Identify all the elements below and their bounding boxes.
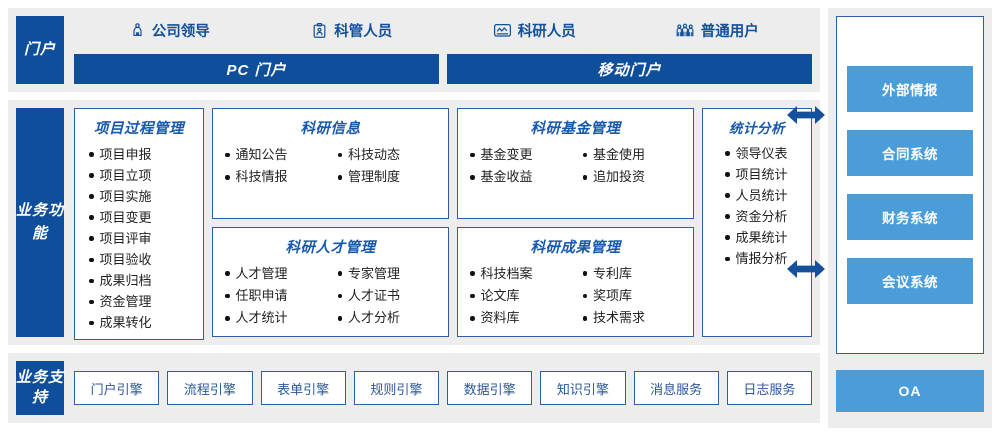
clipboard-person-icon: [311, 22, 328, 39]
engine-form[interactable]: 表单引擎: [261, 371, 346, 405]
engine-rule[interactable]: 规则引擎: [354, 371, 439, 405]
mobile-portal-bar[interactable]: 移动门户: [447, 54, 812, 84]
engine-process[interactable]: 流程引擎: [167, 371, 252, 405]
card-title: 统计分析: [729, 117, 785, 137]
list-item[interactable]: 基金变更: [470, 144, 533, 166]
list-item[interactable]: 人才管理: [225, 263, 288, 285]
persona-label: 科管人员: [334, 20, 392, 41]
persona-researcher[interactable]: 科研人员: [443, 20, 626, 41]
engine-portal[interactable]: 门户引擎: [74, 371, 159, 405]
portal-body: 公司领导 科管人员: [74, 16, 812, 84]
list-item[interactable]: 成果归档: [89, 270, 152, 291]
service-log[interactable]: 日志服务: [727, 371, 812, 405]
card-research-talent-management[interactable]: 科研人才管理 人才管理 专家管理 任职申请 人才证书 人才统计 人才分析: [212, 227, 449, 338]
portal-row-label: 门户: [16, 16, 64, 84]
persona-label: 普通用户: [701, 20, 759, 41]
function-column-3: 科研基金管理 基金变更 基金使用 基金收益 追加投资 科研成果管理 科技档案 专…: [457, 108, 694, 337]
list-item[interactable]: 技术需求: [583, 307, 646, 329]
card-project-process-management[interactable]: 项目过程管理 项目申报 项目立项 项目实施 项目变更 项目评审 项目验收 成果归…: [74, 108, 204, 340]
list-item[interactable]: 管理制度: [338, 166, 401, 188]
list-item[interactable]: 项目实施: [89, 186, 152, 207]
card-statistical-analysis[interactable]: 统计分析 领导仪表 项目统计 人员统计 资金分析 成果统计 情报分析: [702, 108, 812, 337]
service-message[interactable]: 消息服务: [634, 371, 719, 405]
arrow-top-icon: [786, 104, 826, 126]
list-item[interactable]: 项目评审: [89, 228, 152, 249]
card-research-fund-management[interactable]: 科研基金管理 基金变更 基金使用 基金收益 追加投资: [457, 108, 694, 219]
business-support-band: 业务支持 门户引擎 流程引擎 表单引擎 规则引擎 数据引擎 知识引擎 消息服务 …: [8, 353, 820, 423]
list-item[interactable]: 基金使用: [583, 144, 646, 166]
list-item[interactable]: 资金分析: [725, 206, 788, 227]
list-item[interactable]: 人员统计: [725, 185, 788, 206]
list-item[interactable]: 领导仪表: [725, 143, 788, 164]
list-item[interactable]: 项目统计: [725, 164, 788, 185]
business-support-row-label: 业务支持: [16, 361, 64, 415]
card-research-achievement-management[interactable]: 科研成果管理 科技档案 专利库 论文库 奖项库 资料库 技术需求: [457, 227, 694, 338]
list-item[interactable]: 人才证书: [338, 285, 401, 307]
list-item[interactable]: 基金收益: [470, 166, 533, 188]
card-research-information[interactable]: 科研信息 通知公告 科技动态 科技情报 管理制度: [212, 108, 449, 219]
engine-knowledge[interactable]: 知识引擎: [540, 371, 625, 405]
function-column-2: 科研信息 通知公告 科技动态 科技情报 管理制度 科研人才管理 人才管理 专家管…: [212, 108, 449, 337]
persona-general-user[interactable]: 普通用户: [626, 20, 809, 41]
card-item-list: 基金变更 基金使用 基金收益 追加投资: [462, 144, 689, 189]
list-item[interactable]: 科技动态: [338, 144, 401, 166]
list-item[interactable]: 资料库: [470, 307, 520, 329]
card-title: 项目过程管理: [94, 117, 184, 138]
persona-company-leader[interactable]: 公司领导: [78, 20, 261, 41]
engine-data[interactable]: 数据引擎: [447, 371, 532, 405]
list-item[interactable]: 项目验收: [89, 249, 152, 270]
list-item[interactable]: 项目立项: [89, 165, 152, 186]
function-column-1: 项目过程管理 项目申报 项目立项 项目实施 项目变更 项目评审 项目验收 成果归…: [74, 108, 204, 337]
external-systems-panel: 外部情报 合同系统 财务系统 会议系统 OA: [828, 8, 992, 428]
persona-research-admin[interactable]: 科管人员: [261, 20, 444, 41]
business-functions-row-label: 业务功能: [16, 108, 64, 337]
architecture-diagram: 门户 公司领导: [0, 0, 1000, 436]
persona-label: 公司领导: [152, 20, 210, 41]
engine-list: 门户引擎 流程引擎 表单引擎 规则引擎 数据引擎 知识引擎 消息服务 日志服务: [74, 371, 812, 405]
external-system-oa[interactable]: OA: [836, 370, 984, 412]
external-systems-box: 外部情报 合同系统 财务系统 会议系统: [836, 16, 984, 354]
list-item[interactable]: 人才统计: [225, 307, 288, 329]
card-item-list: 人才管理 专家管理 任职申请 人才证书 人才统计 人才分析: [217, 263, 444, 330]
list-item[interactable]: 论文库: [470, 285, 520, 307]
card-item-list: 项目申报 项目立项 项目实施 项目变更 项目评审 项目验收 成果归档 资金管理 …: [79, 144, 199, 333]
card-item-list: 通知公告 科技动态 科技情报 管理制度: [217, 144, 444, 189]
card-title: 科研人才管理: [286, 236, 376, 257]
list-item[interactable]: 任职申请: [225, 285, 288, 307]
portal-band: 门户 公司领导: [8, 8, 820, 92]
list-item[interactable]: 科技情报: [225, 166, 288, 188]
external-system-finance[interactable]: 财务系统: [847, 194, 973, 240]
list-item[interactable]: 资金管理: [89, 291, 152, 312]
list-item[interactable]: 情报分析: [725, 248, 788, 269]
list-item[interactable]: 追加投资: [583, 166, 646, 188]
persona-row: 公司领导 科管人员: [74, 16, 812, 44]
leader-icon: [129, 22, 146, 39]
card-title: 科研基金管理: [531, 117, 621, 138]
card-item-list: 科技档案 专利库 论文库 奖项库 资料库 技术需求: [462, 263, 689, 330]
list-item[interactable]: 奖项库: [583, 285, 633, 307]
business-functions-band: 业务功能 项目过程管理 项目申报 项目立项 项目实施 项目变更 项目评审 项目验…: [8, 100, 820, 345]
list-item[interactable]: 项目变更: [89, 207, 152, 228]
card-title: 科研成果管理: [531, 236, 621, 257]
arrow-bottom-icon: [786, 258, 826, 280]
list-item[interactable]: 项目申报: [89, 144, 152, 165]
pc-portal-bar[interactable]: PC 门户: [74, 54, 439, 84]
function-column-4: 统计分析 领导仪表 项目统计 人员统计 资金分析 成果统计 情报分析: [702, 108, 812, 337]
list-item[interactable]: 成果统计: [725, 227, 788, 248]
external-system-contract[interactable]: 合同系统: [847, 130, 973, 176]
list-item[interactable]: 专利库: [583, 263, 633, 285]
architecture-main-column: 门户 公司领导: [8, 0, 820, 436]
people-group-icon: [675, 22, 695, 39]
portal-bars: PC 门户 移动门户: [74, 54, 812, 84]
card-title: 科研信息: [301, 117, 361, 138]
list-item[interactable]: 成果转化: [89, 312, 152, 333]
list-item[interactable]: 通知公告: [225, 144, 288, 166]
card-item-list: 领导仪表 项目统计 人员统计 资金分析 成果统计 情报分析: [707, 143, 807, 269]
chart-monitor-icon: [493, 22, 512, 39]
external-system-meeting[interactable]: 会议系统: [847, 258, 973, 304]
persona-label: 科研人员: [518, 20, 576, 41]
list-item[interactable]: 人才分析: [338, 307, 401, 329]
list-item[interactable]: 科技档案: [470, 263, 533, 285]
external-system-intelligence[interactable]: 外部情报: [847, 66, 973, 112]
function-cards-grid: 项目过程管理 项目申报 项目立项 项目实施 项目变更 项目评审 项目验收 成果归…: [74, 108, 812, 337]
list-item[interactable]: 专家管理: [338, 263, 401, 285]
